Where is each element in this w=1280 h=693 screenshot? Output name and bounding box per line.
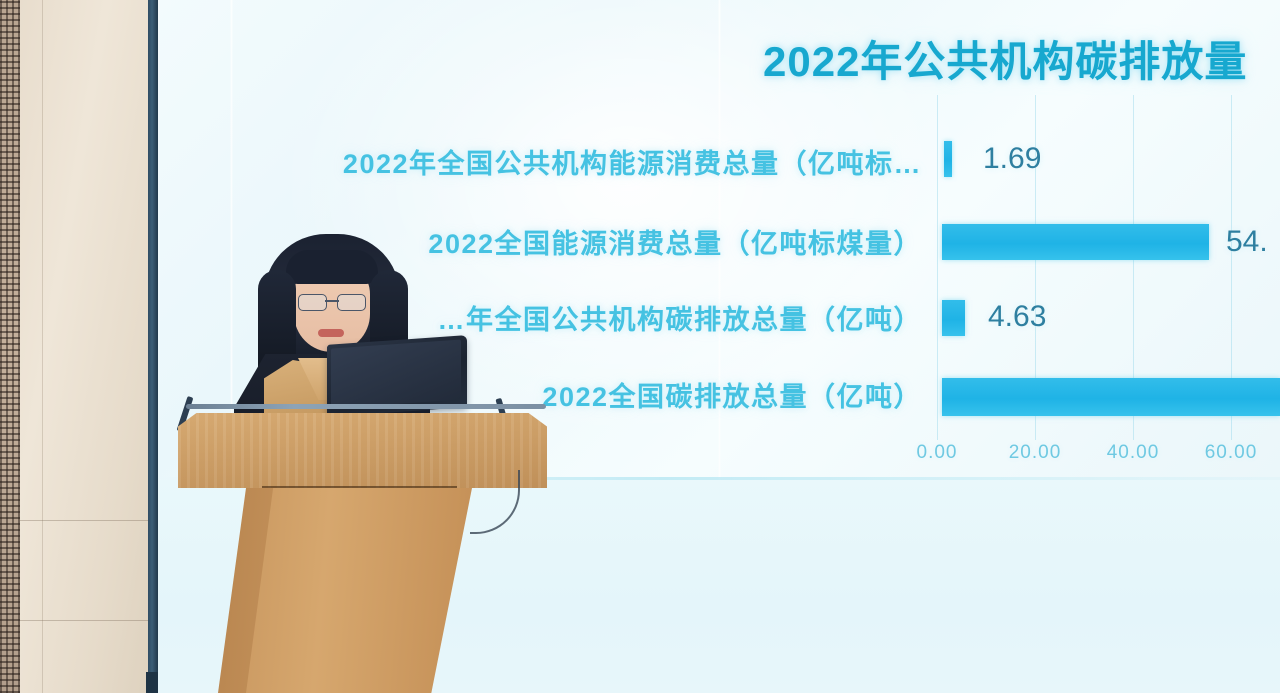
glasses-bridge <box>325 300 339 302</box>
bar-3 <box>942 300 965 336</box>
axis-tick-20: 20.00 <box>1009 442 1062 464</box>
bar-2 <box>942 224 1209 260</box>
wall-panel-groove <box>42 0 43 693</box>
bar-label-1: 2022年全国公共机构能源消费总量（亿吨标… <box>343 142 922 181</box>
glasses-lens-right <box>337 294 366 311</box>
bar-label-4: 2022全国碳排放总量（亿吨） <box>542 375 922 414</box>
bar-value-3: 4.63 <box>988 300 1046 334</box>
slide-title: 2022年公共机构碳排放量 <box>763 28 1247 89</box>
lectern-rail <box>186 404 546 409</box>
bar-1 <box>944 141 952 177</box>
glasses-icon <box>298 294 366 309</box>
bar-label-3: …年全国公共机构碳排放总量（亿吨） <box>438 298 923 337</box>
perforated-acoustic-strip <box>0 0 20 693</box>
glasses-lens-left <box>298 294 327 311</box>
bar-value-2: 54. <box>1226 225 1268 259</box>
wall-panel-seam <box>20 620 148 621</box>
bar-label-2: 2022全国能源消费总量（亿吨标煤量） <box>428 222 922 261</box>
hair-fringe <box>286 250 378 284</box>
bar-value-1: 1.69 <box>983 142 1041 176</box>
axis-tick-0: 0.00 <box>917 442 958 464</box>
projection-screen-frame <box>148 0 158 693</box>
wall-panel-seam <box>20 520 148 521</box>
wall-panel <box>20 0 148 693</box>
axis-tick-40: 40.00 <box>1107 442 1160 464</box>
bar-4 <box>942 378 1280 416</box>
laptop-lid <box>331 340 461 409</box>
presentation-photo: 2022年公共机构碳排放量 2022年全国公共机构能源消费总量（亿吨标… 1.6… <box>0 0 1280 693</box>
mouth <box>318 329 344 337</box>
axis-tick-60: 60.00 <box>1205 442 1258 464</box>
gridline <box>937 95 938 440</box>
